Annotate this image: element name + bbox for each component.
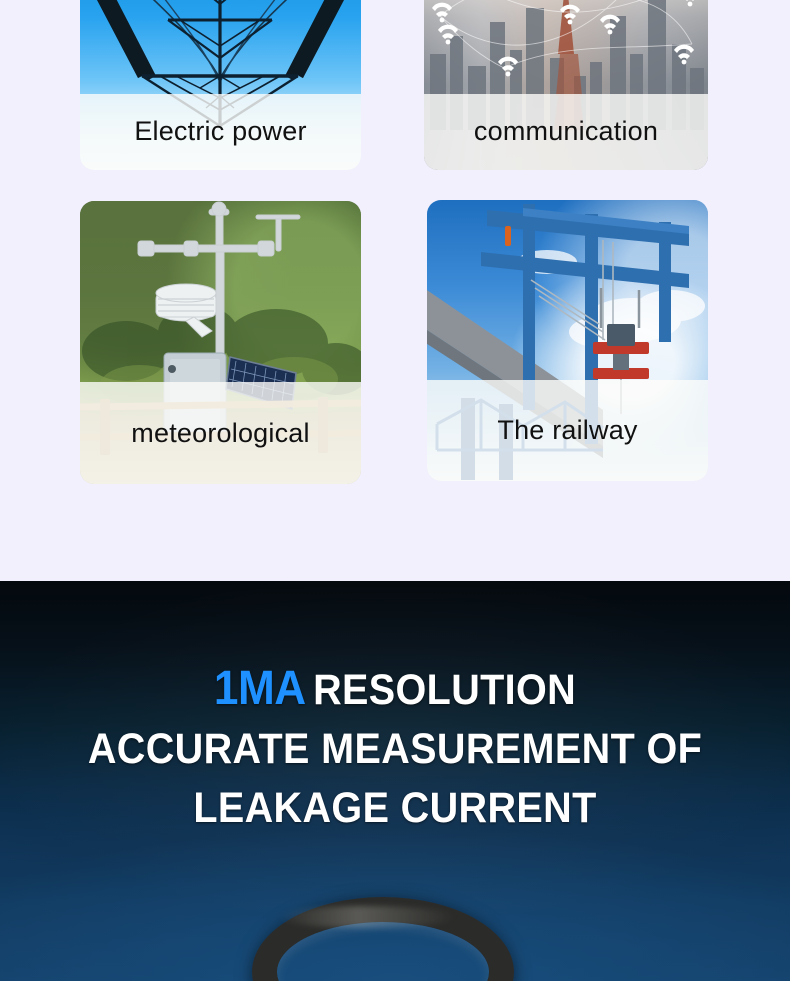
hero-headline-line-1-rest: RESOLUTION (313, 666, 576, 714)
page-root: Electric power (0, 0, 790, 981)
application-card-railway[interactable]: The railway (427, 200, 708, 481)
hero-banner-section: 1MARESOLUTION ACCURATE MEASUREMENT OF LE… (0, 581, 790, 981)
meteorological-caption-band: meteorological (80, 382, 361, 484)
application-scenarios-section: Electric power (0, 0, 790, 581)
clamp-meter-product-image (252, 897, 514, 981)
communication-caption-band: communication (424, 94, 708, 170)
card-caption: Electric power (134, 118, 306, 145)
hero-accent-text: 1MA (214, 662, 313, 715)
clamp-meter-highlight (278, 906, 456, 928)
hero-headline: 1MARESOLUTION ACCURATE MEASUREMENT OF LE… (32, 659, 759, 838)
hero-headline-line-3: LEAKAGE CURRENT (32, 779, 759, 838)
hero-headline-line-2: ACCURATE MEASUREMENT OF (32, 720, 759, 779)
application-card-electric-power[interactable]: Electric power (80, 0, 361, 170)
card-caption: meteorological (131, 420, 309, 447)
application-card-communication[interactable]: communication (424, 0, 708, 170)
card-caption: The railway (497, 417, 637, 444)
card-caption: communication (474, 118, 658, 145)
application-card-meteorological[interactable]: meteorological (80, 201, 361, 484)
railway-caption-band: The railway (427, 380, 708, 481)
hero-headline-line-1: 1MARESOLUTION (32, 659, 759, 720)
electric-power-caption-band: Electric power (80, 94, 361, 170)
